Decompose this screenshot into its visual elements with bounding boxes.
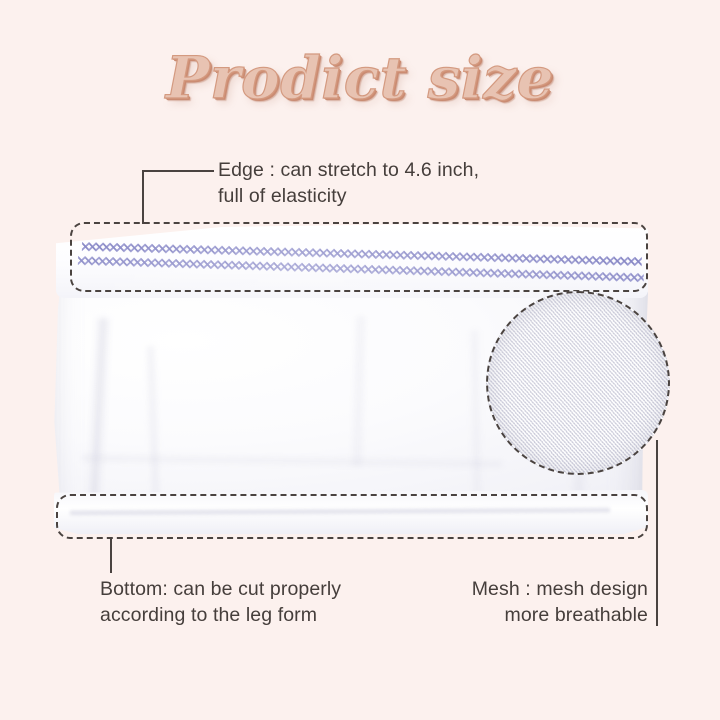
- leader-line-edge-horizontal: [142, 170, 214, 172]
- fabric-fold: [145, 346, 162, 516]
- callout-mesh-label: Mesh : mesh design more breathable: [418, 577, 648, 628]
- mesh-magnifier-circle: [486, 291, 670, 475]
- fabric-fold: [82, 453, 502, 469]
- callout-edge-label: Edge : can stretch to 4.6 inch, full of …: [218, 158, 568, 209]
- highlight-box-edge: [70, 222, 648, 292]
- fabric-fold: [468, 330, 483, 510]
- fabric-fold: [350, 316, 368, 466]
- leader-line-edge-vertical: [142, 170, 144, 224]
- infographic-canvas: Prodict size Edge : can stretch to 4.6 i…: [0, 0, 720, 720]
- callout-bottom-label: Bottom: can be cut properly according to…: [100, 577, 400, 628]
- leader-line-bottom-vertical: [110, 539, 112, 573]
- page-title: Prodict size: [0, 48, 720, 109]
- leader-line-mesh-vertical: [656, 440, 658, 626]
- highlight-box-bottom: [56, 494, 648, 539]
